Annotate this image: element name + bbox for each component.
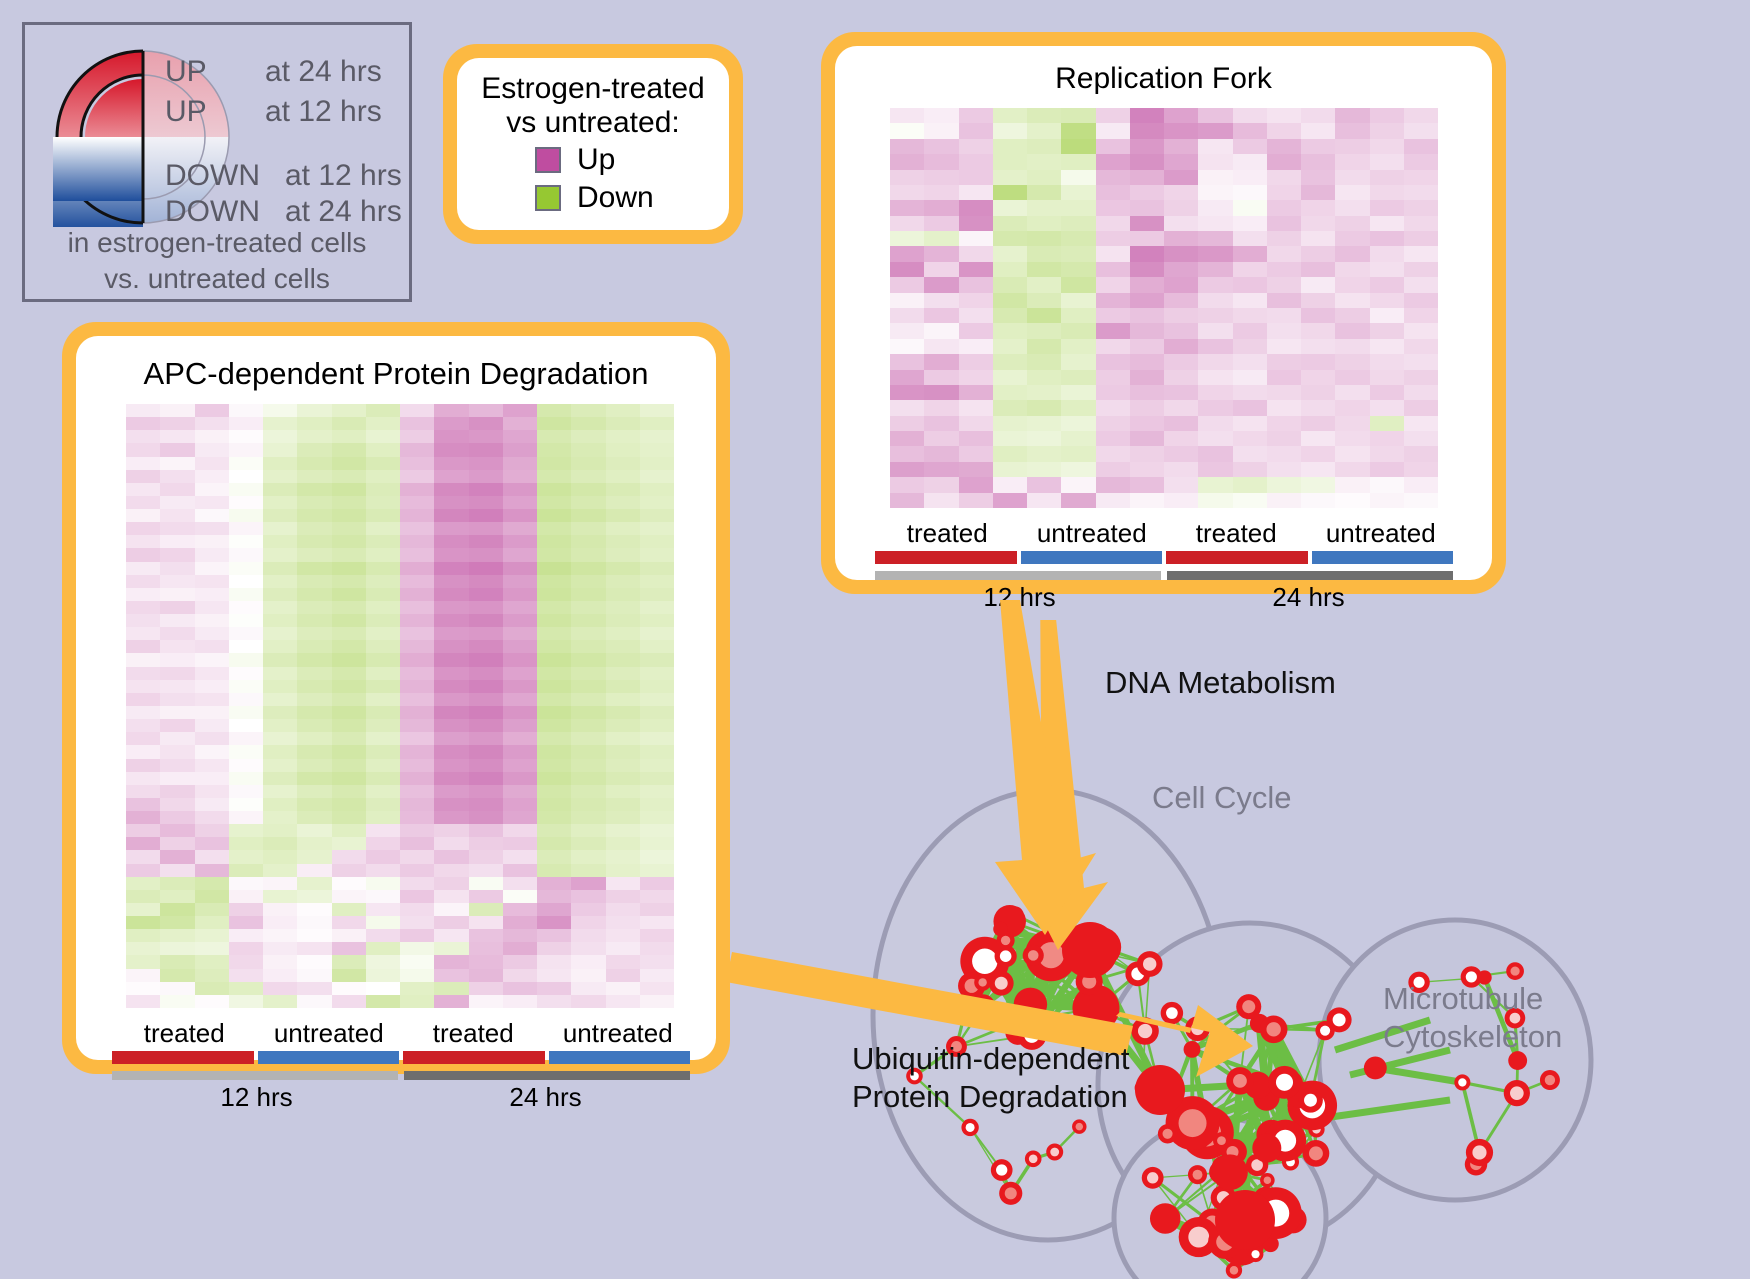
heatmap-cell	[606, 575, 640, 588]
network-node[interactable]	[1466, 1139, 1493, 1166]
heatmap-cell	[263, 588, 297, 601]
heatmap-cell	[1061, 200, 1095, 215]
heatmap-cell	[229, 955, 263, 968]
heatmap-cell	[469, 772, 503, 785]
heatmap-cell	[469, 693, 503, 706]
cluster-label-ubiquitin-line1: Ubiquitin-dependent	[852, 1040, 1130, 1078]
heatmap-cell	[229, 653, 263, 666]
heatmap-cell	[126, 667, 160, 680]
heatmap-cell	[160, 417, 194, 430]
heatmap-cell	[469, 548, 503, 561]
heatmap-cell	[1164, 185, 1198, 200]
heatmap-cell	[263, 483, 297, 496]
heatmap-cell	[126, 443, 160, 456]
heatmap-cell	[1233, 200, 1267, 215]
heatmap-cell	[297, 837, 331, 850]
heatmap-cell	[924, 493, 958, 508]
heatmap-cell	[1404, 323, 1438, 338]
heatmap-cell	[1130, 108, 1164, 123]
network-node[interactable]	[999, 1182, 1022, 1205]
heatmap-cell	[959, 262, 993, 277]
heatmap-cell	[1404, 231, 1438, 246]
heatmap-cell	[1198, 416, 1232, 431]
heatmap-cell	[640, 785, 674, 798]
heatmap-cell	[297, 601, 331, 614]
heatmap-cell	[195, 995, 229, 1008]
heatmap-cell	[195, 745, 229, 758]
heatmap-cell	[1404, 462, 1438, 477]
heatmap-cell	[297, 732, 331, 745]
network-node[interactable]	[1298, 1088, 1323, 1113]
heatmap-cell	[1096, 477, 1130, 492]
heatmap-cell	[126, 509, 160, 522]
cluster-label-ubiquitin-line2: Protein Degradation	[852, 1078, 1130, 1116]
network-node[interactable]	[1236, 994, 1261, 1019]
network-node[interactable]	[1504, 1080, 1530, 1106]
heatmap-cell	[606, 430, 640, 443]
heatmap-cell	[1404, 385, 1438, 400]
heatmap-cell	[1267, 277, 1301, 292]
network-node[interactable]	[1046, 1144, 1063, 1161]
heatmap-cell	[993, 400, 1027, 415]
heatmap-cell	[160, 969, 194, 982]
heatmap-cell	[126, 522, 160, 535]
heatmap-cell	[1130, 262, 1164, 277]
network-node[interactable]	[1364, 1057, 1387, 1080]
heatmap-cell	[571, 522, 605, 535]
heatmap-cell	[229, 824, 263, 837]
replication-fork-title: Replication Fork	[835, 62, 1492, 96]
heatmap-cell	[1335, 323, 1369, 338]
heatmap-cell	[537, 443, 571, 456]
heatmap-cell	[332, 640, 366, 653]
network-node[interactable]	[991, 1159, 1013, 1181]
axis-condition-label: untreated	[1020, 518, 1165, 549]
legend-down-label: Down	[577, 181, 654, 215]
heatmap-cell	[469, 798, 503, 811]
network-node[interactable]	[1150, 1203, 1181, 1234]
heatmap-cell	[297, 877, 331, 890]
heatmap-cell	[297, 772, 331, 785]
heatmap-cell	[1404, 370, 1438, 385]
heatmap-cell	[297, 548, 331, 561]
heatmap-cell	[1027, 431, 1061, 446]
heatmap-cell	[297, 430, 331, 443]
heatmap-cell	[571, 811, 605, 824]
heatmap-cell	[924, 108, 958, 123]
heatmap-cell	[434, 719, 468, 732]
heatmap-cell	[400, 877, 434, 890]
heatmap-cell	[1301, 462, 1335, 477]
heatmap-cell	[160, 443, 194, 456]
heatmap-cell	[126, 601, 160, 614]
heatmap-cell	[263, 995, 297, 1008]
heatmap-cell	[571, 772, 605, 785]
heatmap-cell	[924, 354, 958, 369]
heatmap-cell	[571, 443, 605, 456]
heatmap-cell	[263, 653, 297, 666]
heatmap-cell	[126, 719, 160, 732]
heatmap-cell	[606, 627, 640, 640]
heatmap-cell	[537, 837, 571, 850]
heatmap-cell	[297, 667, 331, 680]
heatmap-cell	[332, 732, 366, 745]
heatmap-cell	[924, 416, 958, 431]
heatmap-cell	[993, 462, 1027, 477]
heatmap-cell	[571, 430, 605, 443]
heatmap-cell	[229, 470, 263, 483]
pathway-network-diagram	[790, 620, 1750, 1279]
axis-timepoint-label: 12 hrs	[875, 582, 1164, 613]
heatmap-cell	[400, 470, 434, 483]
heatmap-cell	[297, 706, 331, 719]
heatmap-cell	[1096, 400, 1130, 415]
network-node[interactable]	[993, 922, 1008, 937]
heatmap-cell	[366, 916, 400, 929]
heatmap-cell	[1096, 462, 1130, 477]
heatmap-cell	[1198, 462, 1232, 477]
heatmap-cell	[263, 522, 297, 535]
heatmap-cell	[640, 470, 674, 483]
heatmap-cell	[1130, 354, 1164, 369]
heatmap-cell	[503, 509, 537, 522]
heatmap-cell	[537, 759, 571, 772]
heatmap-cell	[195, 509, 229, 522]
heatmap-cell	[1130, 370, 1164, 385]
heatmap-cell	[366, 588, 400, 601]
heatmap-cell	[1198, 231, 1232, 246]
network-node[interactable]	[1158, 1124, 1177, 1143]
heatmap-cell	[890, 431, 924, 446]
network-node[interactable]	[961, 1119, 978, 1136]
heatmap-cell	[640, 969, 674, 982]
heatmap-cell	[959, 493, 993, 508]
heatmap-cell	[263, 667, 297, 680]
network-node[interactable]	[1268, 1066, 1301, 1099]
heatmap-cell	[537, 995, 571, 1008]
heatmap-cell	[890, 293, 924, 308]
heatmap-cell	[332, 942, 366, 955]
heatmap-cell	[229, 785, 263, 798]
network-node[interactable]	[1252, 1134, 1281, 1163]
heatmap-cell	[503, 614, 537, 627]
heatmap-cell	[332, 824, 366, 837]
heatmap-cell	[1301, 231, 1335, 246]
heatmap-cell	[537, 798, 571, 811]
network-node[interactable]	[974, 974, 991, 991]
heatmap-cell	[959, 400, 993, 415]
figure-canvas: UP at 24 hrs UP at 12 hrs DOWN at 12 hrs…	[0, 0, 1750, 1279]
heatmap-cell	[195, 470, 229, 483]
heatmap-cell	[890, 323, 924, 338]
heatmap-cell	[1164, 462, 1198, 477]
heatmap-cell	[537, 969, 571, 982]
heatmap-cell	[366, 955, 400, 968]
heatmap-cell	[1370, 123, 1404, 138]
heatmap-cell	[229, 969, 263, 982]
heatmap-cell	[1096, 216, 1130, 231]
heatmap-cell	[606, 759, 640, 772]
heatmap-cell	[195, 430, 229, 443]
color-legend-panel: Estrogen-treated vs untreated: Up Down	[443, 44, 743, 244]
heatmap-cell	[606, 877, 640, 890]
heatmap-cell	[537, 667, 571, 680]
heatmap-cell	[1335, 431, 1369, 446]
heatmap-cell	[332, 588, 366, 601]
heatmap-cell	[469, 640, 503, 653]
heatmap-cell	[1198, 308, 1232, 323]
heatmap-cell	[400, 627, 434, 640]
heatmap-cell	[366, 627, 400, 640]
heatmap-cell	[1198, 123, 1232, 138]
network-node[interactable]	[1072, 1119, 1086, 1133]
heatmap-cell	[640, 443, 674, 456]
network-node[interactable]	[1226, 1262, 1242, 1278]
heatmap-cell	[434, 417, 468, 430]
heatmap-cell	[1301, 354, 1335, 369]
heatmap-cell	[1164, 108, 1198, 123]
heatmap-cell	[1164, 154, 1198, 169]
heatmap-cell	[160, 404, 194, 417]
axis-timepoint-label: 24 hrs	[1164, 582, 1453, 613]
heatmap-cell	[640, 903, 674, 916]
heatmap-cell	[400, 417, 434, 430]
network-node[interactable]	[1142, 1167, 1164, 1189]
heatmap-cell	[469, 877, 503, 890]
heatmap-cell	[1198, 262, 1232, 277]
heatmap-cell	[1027, 308, 1061, 323]
heatmap-cell	[959, 446, 993, 461]
heatmap-cell	[890, 200, 924, 215]
heatmap-cell	[1233, 385, 1267, 400]
heatmap-cell	[126, 706, 160, 719]
heatmap-cell	[126, 929, 160, 942]
network-node[interactable]	[1135, 1065, 1185, 1115]
network-node[interactable]	[1315, 1021, 1334, 1040]
key-row-1-time: at 12 hrs	[265, 95, 382, 129]
heatmap-cell	[640, 457, 674, 470]
heatmap-cell	[606, 640, 640, 653]
heatmap-cell	[366, 667, 400, 680]
heatmap-cell	[160, 903, 194, 916]
heatmap-cell	[640, 759, 674, 772]
heatmap-cell	[1096, 308, 1130, 323]
heatmap-cell	[229, 995, 263, 1008]
heatmap-cell	[1164, 493, 1198, 508]
network-node[interactable]	[1188, 1165, 1207, 1184]
heatmap-cell	[640, 745, 674, 758]
heatmap-cell	[606, 719, 640, 732]
heatmap-cell	[263, 457, 297, 470]
heatmap-cell	[263, 864, 297, 877]
heatmap-cell	[263, 850, 297, 863]
heatmap-cell	[263, 785, 297, 798]
heatmap-cell	[890, 108, 924, 123]
network-node[interactable]	[1226, 1067, 1254, 1095]
legend-up-label: Up	[577, 143, 615, 177]
heatmap-cell	[1335, 493, 1369, 508]
heatmap-cell	[1164, 308, 1198, 323]
network-node[interactable]	[1161, 1002, 1183, 1024]
heatmap-cell	[400, 483, 434, 496]
heatmap-cell	[503, 627, 537, 640]
heatmap-cell	[1301, 493, 1335, 508]
heatmap-cell	[1130, 416, 1164, 431]
heatmap-cell	[195, 850, 229, 863]
heatmap-cell	[297, 509, 331, 522]
heatmap-cell	[400, 969, 434, 982]
heatmap-cell	[571, 903, 605, 916]
heatmap-cell	[571, 877, 605, 890]
network-node[interactable]	[989, 971, 1014, 996]
heatmap-cell	[1267, 200, 1301, 215]
heatmap-cell	[332, 404, 366, 417]
heatmap-cell	[959, 277, 993, 292]
heatmap-cell	[1198, 200, 1232, 215]
heatmap-cell	[606, 601, 640, 614]
network-node[interactable]	[1185, 1016, 1210, 1041]
heatmap-cell	[571, 824, 605, 837]
heatmap-cell	[434, 614, 468, 627]
heatmap-cell	[571, 535, 605, 548]
heatmap-cell	[195, 824, 229, 837]
heatmap-cell	[571, 496, 605, 509]
heatmap-cell	[1370, 108, 1404, 123]
heatmap-cell	[400, 614, 434, 627]
network-node[interactable]	[1023, 945, 1044, 966]
heatmap-cell	[263, 903, 297, 916]
heatmap-cell	[126, 916, 160, 929]
heatmap-cell	[195, 903, 229, 916]
heatmap-cell	[1370, 339, 1404, 354]
cluster-label-dna-metabolism: DNA Metabolism	[1105, 665, 1336, 701]
heatmap-cell	[126, 850, 160, 863]
heatmap-cell	[1335, 123, 1369, 138]
heatmap-cell	[366, 404, 400, 417]
heatmap-cell	[195, 798, 229, 811]
heatmap-cell	[640, 732, 674, 745]
heatmap-cell	[924, 293, 958, 308]
heatmap-cell	[503, 759, 537, 772]
network-node[interactable]	[1137, 951, 1163, 977]
heatmap-cell	[571, 693, 605, 706]
heatmap-cell	[434, 811, 468, 824]
heatmap-cell	[332, 916, 366, 929]
heatmap-cell	[1096, 446, 1130, 461]
heatmap-cell	[366, 759, 400, 772]
heatmap-cell	[1301, 262, 1335, 277]
heatmap-cell	[640, 811, 674, 824]
network-node[interactable]	[1454, 1074, 1470, 1090]
heatmap-cell	[1233, 293, 1267, 308]
heatmap-cell	[263, 837, 297, 850]
heatmap-cell	[1096, 293, 1130, 308]
heatmap-cell	[434, 522, 468, 535]
axis-condition-bar	[258, 1051, 400, 1064]
heatmap-cell	[195, 627, 229, 640]
network-node[interactable]	[1212, 1154, 1248, 1190]
heatmap-cell	[400, 864, 434, 877]
heatmap-cell	[469, 850, 503, 863]
heatmap-cell	[1267, 416, 1301, 431]
network-node[interactable]	[1014, 988, 1047, 1021]
heatmap-cell	[297, 785, 331, 798]
heatmap-cell	[366, 877, 400, 890]
network-node[interactable]	[1215, 1190, 1275, 1250]
network-node[interactable]	[1506, 962, 1524, 980]
heatmap-cell	[606, 443, 640, 456]
heatmap-cell	[297, 417, 331, 430]
heatmap-cell	[1096, 339, 1130, 354]
heatmap-cell	[1198, 170, 1232, 185]
heatmap-cell	[434, 706, 468, 719]
heatmap-cell	[606, 969, 640, 982]
heatmap-cell	[400, 903, 434, 916]
heatmap-cell	[434, 535, 468, 548]
up-swatch-icon	[535, 147, 561, 173]
heatmap-cell	[160, 509, 194, 522]
heatmap-cell	[229, 890, 263, 903]
heatmap-cell	[160, 627, 194, 640]
heatmap-cell	[1164, 370, 1198, 385]
heatmap-cell	[640, 719, 674, 732]
network-node[interactable]	[1260, 1173, 1275, 1188]
heatmap-cell	[160, 850, 194, 863]
heatmap-cell	[890, 231, 924, 246]
heatmap-cell	[366, 443, 400, 456]
heatmap-cell	[366, 942, 400, 955]
network-node[interactable]	[1540, 1070, 1560, 1090]
heatmap-cell	[924, 154, 958, 169]
heatmap-cell	[332, 667, 366, 680]
heatmap-cell	[503, 719, 537, 732]
heatmap-cell	[332, 457, 366, 470]
heatmap-cell	[1027, 446, 1061, 461]
network-node[interactable]	[1303, 1140, 1330, 1167]
heatmap-cell	[400, 745, 434, 758]
heatmap-cell	[263, 719, 297, 732]
heatmap-cell	[229, 457, 263, 470]
heatmap-cell	[434, 653, 468, 666]
heatmap-cell	[890, 246, 924, 261]
network-node[interactable]	[1131, 1017, 1158, 1044]
heatmap-cell	[1096, 262, 1130, 277]
heatmap-cell	[606, 614, 640, 627]
heatmap-cell	[1198, 293, 1232, 308]
heatmap-cell	[126, 680, 160, 693]
heatmap-cell	[366, 732, 400, 745]
heatmap-cell	[469, 522, 503, 535]
network-node[interactable]	[1260, 1016, 1288, 1044]
heatmap-cell	[1096, 185, 1130, 200]
network-node[interactable]	[1025, 1150, 1042, 1167]
heatmap-cell	[434, 575, 468, 588]
heatmap-cell	[993, 231, 1027, 246]
network-node[interactable]	[1213, 1132, 1230, 1149]
heatmap-cell	[469, 995, 503, 1008]
heatmap-cell	[469, 824, 503, 837]
heatmap-cell	[503, 680, 537, 693]
heatmap-cell	[959, 308, 993, 323]
heatmap-cell	[537, 811, 571, 824]
network-node[interactable]	[1184, 1041, 1201, 1058]
heatmap-cell	[469, 509, 503, 522]
heatmap-cell	[503, 850, 537, 863]
heatmap-cell	[1267, 216, 1301, 231]
heatmap-cell	[959, 200, 993, 215]
heatmap-cell	[297, 719, 331, 732]
heatmap-cell	[503, 864, 537, 877]
